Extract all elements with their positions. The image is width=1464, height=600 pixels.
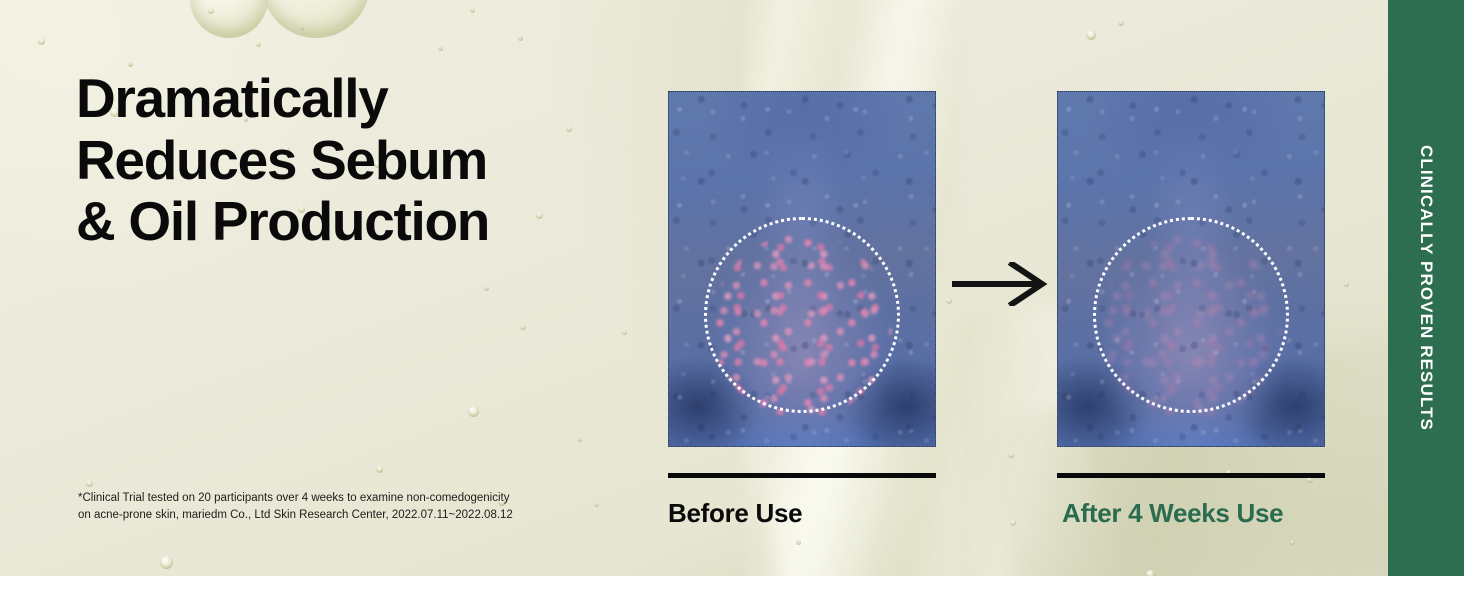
oil-bubble: [38, 38, 45, 45]
oil-bubble: [518, 36, 523, 41]
oil-bubble: [86, 480, 93, 487]
after-caption-label: After 4 Weeks Use: [1062, 498, 1283, 529]
oil-bubble: [160, 556, 173, 569]
oil-bubble: [256, 42, 261, 47]
page-title: Dramatically Reduces Sebum & Oil Product…: [76, 68, 636, 253]
oil-bubble: [1010, 520, 1016, 526]
oil-bubble: [1008, 452, 1014, 458]
before-caption-label: Before Use: [668, 498, 802, 529]
headline-line-3: & Oil Production: [76, 191, 636, 253]
oil-bubble: [1086, 30, 1096, 40]
oil-bubble: [470, 8, 475, 13]
oil-bubble: [520, 324, 526, 330]
clinical-disclaimer: *Clinical Trial tested on 20 participant…: [78, 490, 618, 524]
before-photo: [668, 91, 936, 447]
oil-droplet-medium: [190, 0, 268, 38]
oil-bubble: [796, 540, 801, 545]
oil-bubble: [622, 330, 627, 335]
oil-bubble: [1146, 570, 1155, 576]
after-caption-rule: [1057, 473, 1325, 478]
oil-bubble: [208, 8, 214, 14]
headline-line-1: Dramatically: [76, 68, 636, 130]
disclaimer-line-2: on acne-prone skin, mariedm Co., Ltd Ski…: [78, 507, 618, 524]
clinically-proven-label: CLINICALLY PROVEN RESULTS: [1416, 145, 1436, 431]
headline-line-2: Reduces Sebum: [76, 130, 636, 192]
measurement-zone-circle-before: [704, 217, 900, 413]
after-photo: [1057, 91, 1325, 447]
oil-droplet-large: [262, 0, 370, 38]
oil-bubble: [300, 26, 304, 30]
before-caption-rule: [668, 473, 936, 478]
oil-bubble: [1344, 282, 1349, 287]
oil-bubble: [484, 286, 489, 291]
oil-bubble: [578, 438, 582, 442]
oil-bubble: [376, 466, 383, 473]
clinically-proven-panel: CLINICALLY PROVEN RESULTS: [1388, 0, 1464, 576]
oil-bubble: [438, 46, 443, 51]
promo-banner: Dramatically Reduces Sebum & Oil Product…: [0, 0, 1464, 600]
measurement-zone-circle-after: [1093, 217, 1289, 413]
disclaimer-line-1: *Clinical Trial tested on 20 participant…: [78, 490, 618, 507]
arrow-right-icon: [950, 262, 1050, 311]
oil-bubble: [1118, 20, 1124, 26]
oil-bubble: [1290, 540, 1295, 545]
oil-bubble: [468, 406, 479, 417]
